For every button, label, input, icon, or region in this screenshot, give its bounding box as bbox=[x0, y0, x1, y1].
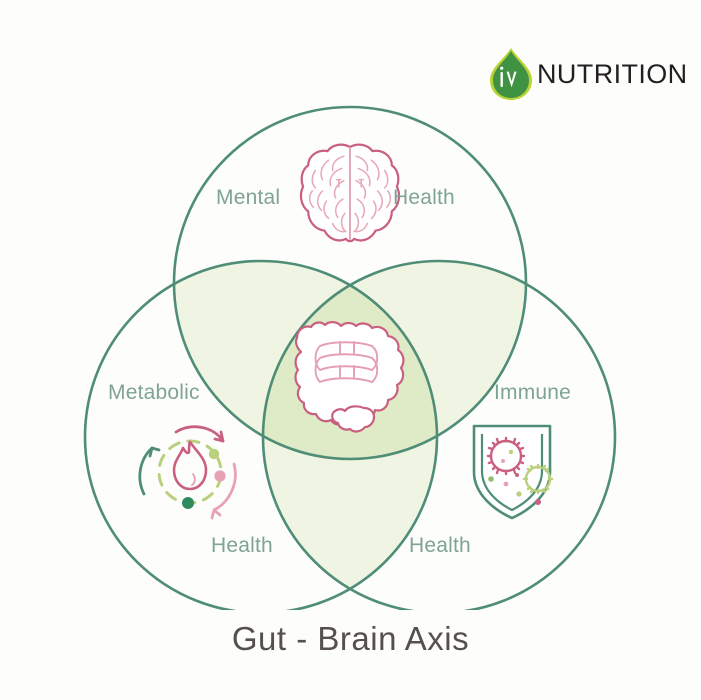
page-title: Gut - Brain Axis bbox=[0, 620, 701, 658]
label-metabolic-health: Health bbox=[211, 534, 273, 558]
brain-icon bbox=[301, 145, 399, 241]
immune-shield-icon bbox=[474, 426, 552, 518]
label-metabolic: Metabolic bbox=[108, 381, 200, 405]
label-immune-health: Health bbox=[409, 534, 471, 558]
metabolism-flame-icon bbox=[140, 427, 236, 518]
label-mental-health: Health bbox=[393, 186, 455, 210]
label-immune: Immune bbox=[494, 381, 571, 405]
venn-diagram: Mental Health Metabolic Immune Health He… bbox=[0, 0, 701, 610]
label-mental: Mental bbox=[216, 186, 280, 210]
poster-root: NUTRITION bbox=[0, 0, 701, 700]
